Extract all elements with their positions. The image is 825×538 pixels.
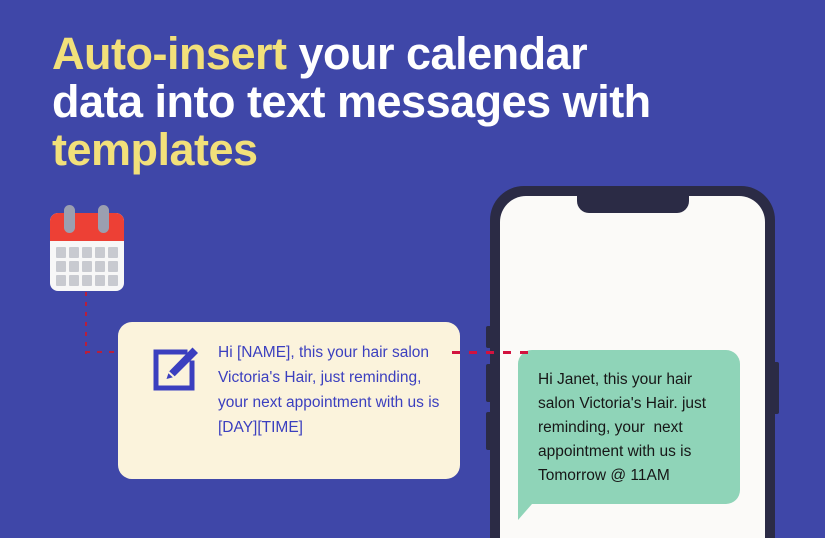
calendar-day-cell (56, 275, 66, 286)
calendar-day-cell (69, 275, 79, 286)
volume-up-button[interactable] (486, 364, 491, 402)
mute-switch[interactable] (486, 326, 491, 348)
calendar-body (50, 213, 124, 291)
calendar-day-cell (69, 261, 79, 272)
promo-banner: Auto-insert your calendar data into text… (0, 0, 825, 538)
calendar-ring-right (98, 205, 109, 233)
message-bubble-tail (518, 504, 532, 520)
power-button[interactable] (774, 362, 779, 414)
dashed-connector-to-phone (452, 351, 532, 354)
calendar-day-cell (69, 247, 79, 258)
headline-accent-templates: templates (52, 124, 258, 175)
calendar-day-grid (56, 247, 118, 286)
calendar-day-cell (108, 247, 118, 258)
calendar-day-cell (95, 247, 105, 258)
page-title: Auto-insert your calendar data into text… (52, 30, 712, 174)
calendar-ring-left (64, 205, 75, 233)
headline-accent-auto-insert: Auto-insert (52, 28, 287, 79)
calendar-day-cell (95, 275, 105, 286)
calendar-header-bar (50, 213, 124, 241)
edit-pencil-icon (148, 344, 200, 396)
phone-notch (577, 196, 689, 213)
calendar-day-cell (82, 247, 92, 258)
calendar-day-cell (82, 275, 92, 286)
dashed-connector-vertical (85, 292, 87, 354)
template-message-text: Hi [NAME], this your hair salon Victoria… (218, 340, 440, 440)
message-bubble-text: Hi Janet, this your hair salon Victoria'… (538, 368, 720, 488)
calendar-day-cell (82, 261, 92, 272)
calendar-day-cell (56, 261, 66, 272)
message-bubble: Hi Janet, this your hair salon Victoria'… (518, 350, 740, 504)
calendar-day-cell (108, 275, 118, 286)
calendar-day-cell (108, 261, 118, 272)
calendar-day-cell (56, 247, 66, 258)
volume-down-button[interactable] (486, 412, 491, 450)
phone-screen: Hi Janet, this your hair salon Victoria'… (500, 196, 765, 538)
calendar-day-cell (95, 261, 105, 272)
template-card: Hi [NAME], this your hair salon Victoria… (118, 322, 460, 479)
phone-mockup: Hi Janet, this your hair salon Victoria'… (490, 186, 775, 538)
calendar-icon (50, 205, 124, 293)
